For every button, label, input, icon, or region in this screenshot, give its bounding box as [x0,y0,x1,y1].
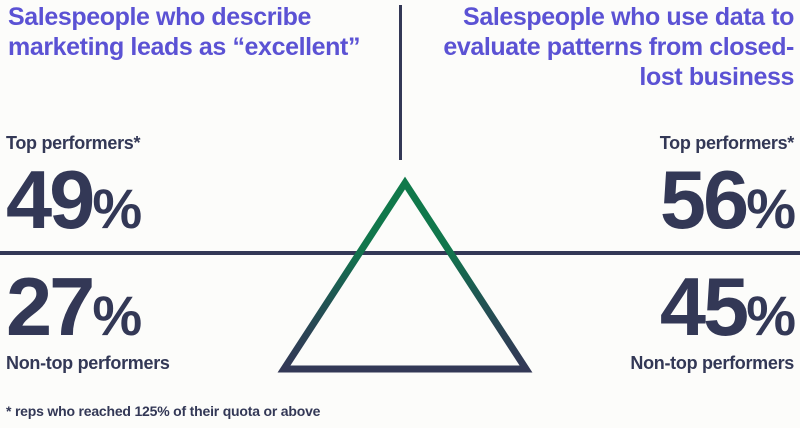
stat-right-top-number: 56 [660,153,746,246]
stat-right-bottom-label: Non-top performers [630,352,794,374]
stat-right-top-value: 56% [660,158,794,241]
footnote: * reps who reached 125% of their quota o… [6,403,320,419]
stat-left-top: Top performers* 49% [6,132,140,241]
triangle-graphic [270,175,540,380]
stat-left-bottom-label: Non-top performers [6,352,170,374]
vertical-divider [399,5,402,160]
triangle-outline-path [284,183,526,369]
stat-right-top-percent-sign: % [746,177,794,240]
infographic-root: Salespeople who describe marketing leads… [0,0,800,428]
heading-right: Salespeople who use data to evaluate pat… [412,2,794,92]
heading-left: Salespeople who describe marketing leads… [8,2,386,62]
stat-left-bottom-value: 27% [6,265,170,348]
stat-left-top-label: Top performers* [6,132,140,154]
stat-left-bottom-percent-sign: % [92,284,140,347]
stat-left-bottom: 27% Non-top performers [6,265,170,374]
stat-left-top-percent-sign: % [92,177,140,240]
stat-left-top-value: 49% [6,158,140,241]
stat-right-bottom: 45% Non-top performers [630,265,794,374]
stat-left-bottom-number: 27 [6,260,92,353]
stat-right-top: Top performers* 56% [660,132,794,241]
stat-left-top-number: 49 [6,153,92,246]
stat-right-bottom-value: 45% [630,265,794,348]
stat-right-bottom-number: 45 [660,260,746,353]
triangle-icon [270,175,540,380]
stat-right-top-label: Top performers* [660,132,794,154]
stat-right-bottom-percent-sign: % [746,284,794,347]
